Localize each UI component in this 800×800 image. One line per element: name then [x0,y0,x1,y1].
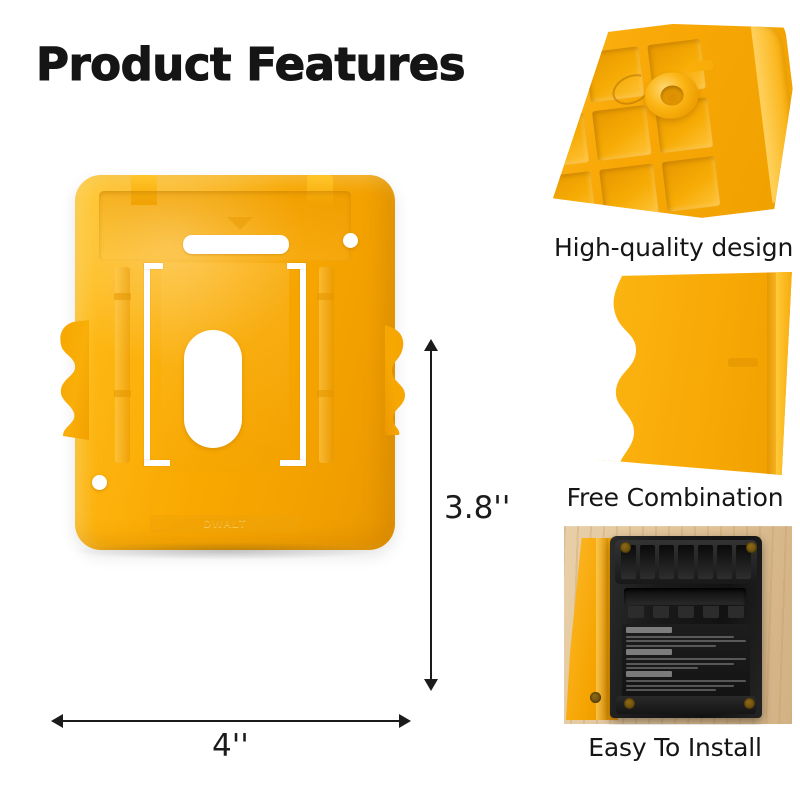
rib-cell [592,105,651,161]
feature-label-high-quality-design: High-quality design [548,233,800,262]
height-dimension-label: 3.8'' [444,490,510,526]
rail-slot-top [287,263,306,269]
contact-tooth [653,606,669,618]
label-line [626,685,734,687]
boss-tab [687,59,714,72]
feature-label-easy-to-install: Easy To Install [548,733,800,762]
scalloped-left-edge [55,320,89,440]
label-line [626,649,672,655]
label-line [626,636,734,638]
contact-tooth [628,606,644,618]
screw-hole-top-right [343,233,358,248]
battery-screw [624,698,635,709]
contact-tooth [728,606,744,618]
photo-interlock-edge [548,272,800,477]
label-line [626,667,698,669]
vent-slot [678,545,693,579]
photo-battery-on-wood [548,522,800,727]
rib-cell [548,54,582,110]
width-dimension-label: 4'' [212,728,249,764]
side-outer-edge [776,272,796,477]
ridge-nub-right-bottom [317,390,334,397]
side-nub [728,358,758,367]
top-slot-opening [183,235,289,254]
battery-screw [746,542,757,553]
scalloped-right-edge [385,325,407,435]
feature-card-easy-to-install: Easy To Install [548,522,800,762]
outer-rim [751,22,800,203]
battery-vent-grille [615,540,757,584]
feature-photo-installed-battery [548,522,800,727]
guide-rail-left [137,263,159,468]
mount-screw [590,692,601,703]
battery-base [616,696,756,714]
rail-slot-vertical [144,263,150,466]
ridge-nub-left-bottom [114,390,131,397]
rail-slot-vertical [300,263,306,466]
label-line [626,627,672,633]
rail-slot-top [144,263,163,269]
label-line [626,680,746,682]
screw-boss-hole [659,84,684,107]
label-line [626,658,746,660]
label-line [626,645,716,647]
label-line [626,640,746,642]
battery-spec-label [622,624,750,702]
vent-slot [659,545,674,579]
rail-slot-bottom [280,460,306,466]
contact-tooth [703,606,719,618]
vent-slot [717,545,732,579]
label-line [626,663,734,665]
mount-back-body [548,22,800,227]
vent-slot [640,545,655,579]
feature-label-free-combination: Free Combination [548,483,800,512]
rib-cell [661,156,720,212]
battery-screw [744,698,755,709]
guide-rail-right [291,263,313,468]
rib-cell [548,171,597,227]
feature-card-free-combination: Free Combination [548,272,800,512]
rail-slot-bottom [144,460,170,466]
label-line [626,671,672,677]
width-dimension-arrow [62,720,400,722]
vent-slot [698,545,713,579]
center-keyhole-slot [184,330,242,448]
ridge-nub-left-top [114,293,131,300]
product-drop-shadow [70,542,380,560]
feature-photo-scalloped-edge [548,272,800,477]
side-rib-groove [767,272,776,477]
photo-ribbed-honeycomb [548,22,800,227]
direction-arrow-icon [227,217,253,230]
label-line [626,689,716,691]
screw-hole-bottom-left [92,475,107,490]
battery-pack [610,536,762,718]
embossed-brand-text: DWALT [150,515,300,533]
ridge-nub-right-top [317,293,334,300]
rib-cell [548,113,589,169]
rib-cell [599,163,658,219]
product-features-infographic: Product Features [0,0,800,800]
hero-product-image: DWALT 3.8'' 4'' [0,150,540,630]
feature-card-high-quality-design: High-quality design [548,22,800,262]
height-dimension-arrow [430,350,432,680]
feature-photo-ribbed-back [548,22,800,227]
contact-tooth [678,606,694,618]
battery-rail-slot [624,588,746,605]
battery-screw [620,542,631,553]
battery-mount-product: DWALT [55,175,400,550]
page-title: Product Features [36,38,465,91]
battery-contact-teeth [628,606,744,618]
